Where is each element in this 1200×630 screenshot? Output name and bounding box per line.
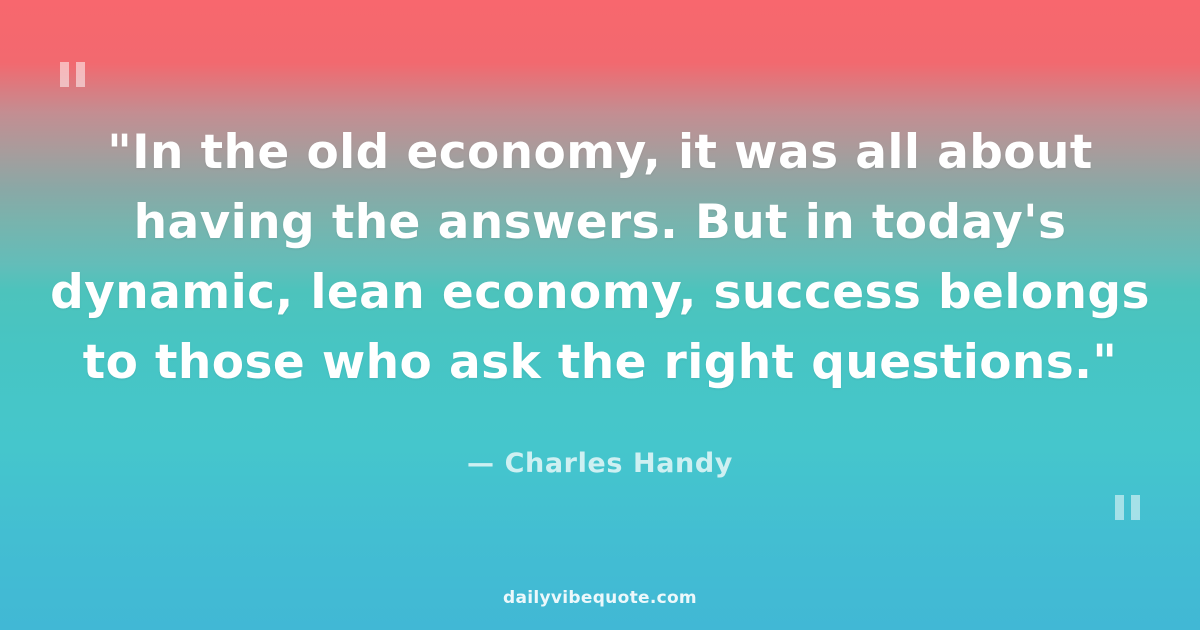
footer: dailyvibequote.com bbox=[0, 588, 1200, 608]
close-quote-icon bbox=[1115, 495, 1140, 520]
quote-attribution: — Charles Handy bbox=[467, 448, 733, 479]
quote-text: "In the old economy, it was all about ha… bbox=[28, 118, 1172, 398]
close-quote-bar-right bbox=[1131, 495, 1140, 520]
footer-domain: dailyvibequote.com bbox=[503, 588, 697, 608]
quote-content: "In the old economy, it was all about ha… bbox=[0, 0, 1200, 630]
close-quote-bar-left bbox=[1115, 495, 1124, 520]
quote-card: "In the old economy, it was all about ha… bbox=[0, 0, 1200, 630]
